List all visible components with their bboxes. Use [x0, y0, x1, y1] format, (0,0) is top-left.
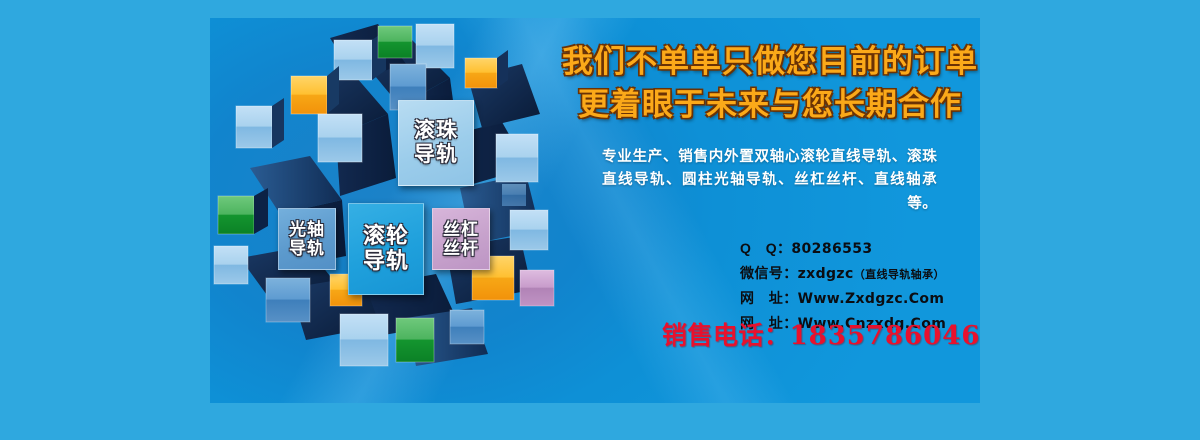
product-label-line1: 滚珠	[414, 119, 458, 143]
product-label-line1: 丝杠	[443, 220, 479, 239]
sales-phone[interactable]: 销售电话：18357860469	[662, 316, 980, 352]
website-1-label: 网 址：	[740, 286, 798, 310]
product-label-line2: 导轨	[363, 249, 409, 274]
banner-content: 我们不单单只做您目前的订单 更着眼于未来与您长期合作 专业生产、销售内外置双轴心…	[560, 18, 980, 403]
product-label-gunzhu-daogui[interactable]: 滚珠 导轨	[398, 100, 474, 186]
qq-label: Q Q：	[740, 236, 791, 260]
headline-line-1: 我们不单单只做您目前的订单	[560, 40, 980, 83]
wechat-value[interactable]: zxdgzc	[798, 266, 854, 282]
product-label-line2: 丝杆	[443, 239, 479, 258]
product-label-line1: 光轴	[289, 220, 325, 239]
product-label-gunlun-daogui[interactable]: 滚轮 导轨	[348, 203, 424, 295]
promo-banner-panel: 滚珠 导轨 光轴 导轨 滚轮 导轨 丝杠 丝杆 我们不单单只做您目前的订单 更着…	[210, 18, 980, 403]
wechat-note: （直线导轨轴承）	[854, 269, 945, 281]
contact-row-qq: Q Q：80286553	[740, 236, 980, 261]
website-1-value[interactable]: Www.Zxdgzc.Com	[798, 291, 945, 307]
qq-value[interactable]: 80286553	[791, 241, 872, 257]
banner-stage: 滚珠 导轨 光轴 导轨 滚轮 导轨 丝杠 丝杆 我们不单单只做您目前的订单 更着…	[0, 0, 1200, 440]
sales-phone-label: 销售电话：	[662, 322, 790, 350]
headline-line-2: 更着眼于未来与您长期合作	[560, 83, 980, 126]
product-label-guangzhou-daogui[interactable]: 光轴 导轨	[278, 208, 336, 270]
sales-phone-number: 18357860469	[790, 321, 980, 351]
description-text: 专业生产、销售内外置双轴心滚轮直线导轨、滚珠直线导轨、圆柱光轴导轨、丝杠丝杆、直…	[602, 146, 937, 216]
contact-row-wechat: 微信号：zxdgzc（直线导轨轴承）	[740, 261, 980, 286]
wechat-label: 微信号：	[740, 261, 798, 285]
exploding-cubes-illustration: 滚珠 导轨 光轴 导轨 滚轮 导轨 丝杠 丝杆	[210, 18, 560, 403]
product-label-sigang-sigan[interactable]: 丝杠 丝杆	[432, 208, 490, 270]
headline: 我们不单单只做您目前的订单 更着眼于未来与您长期合作	[560, 40, 980, 127]
contact-row-website-1: 网 址：Www.Zxdgzc.Com	[740, 286, 980, 311]
product-label-line1: 滚轮	[363, 224, 409, 249]
product-label-line2: 导轨	[289, 239, 325, 258]
product-label-line2: 导轨	[414, 143, 458, 167]
